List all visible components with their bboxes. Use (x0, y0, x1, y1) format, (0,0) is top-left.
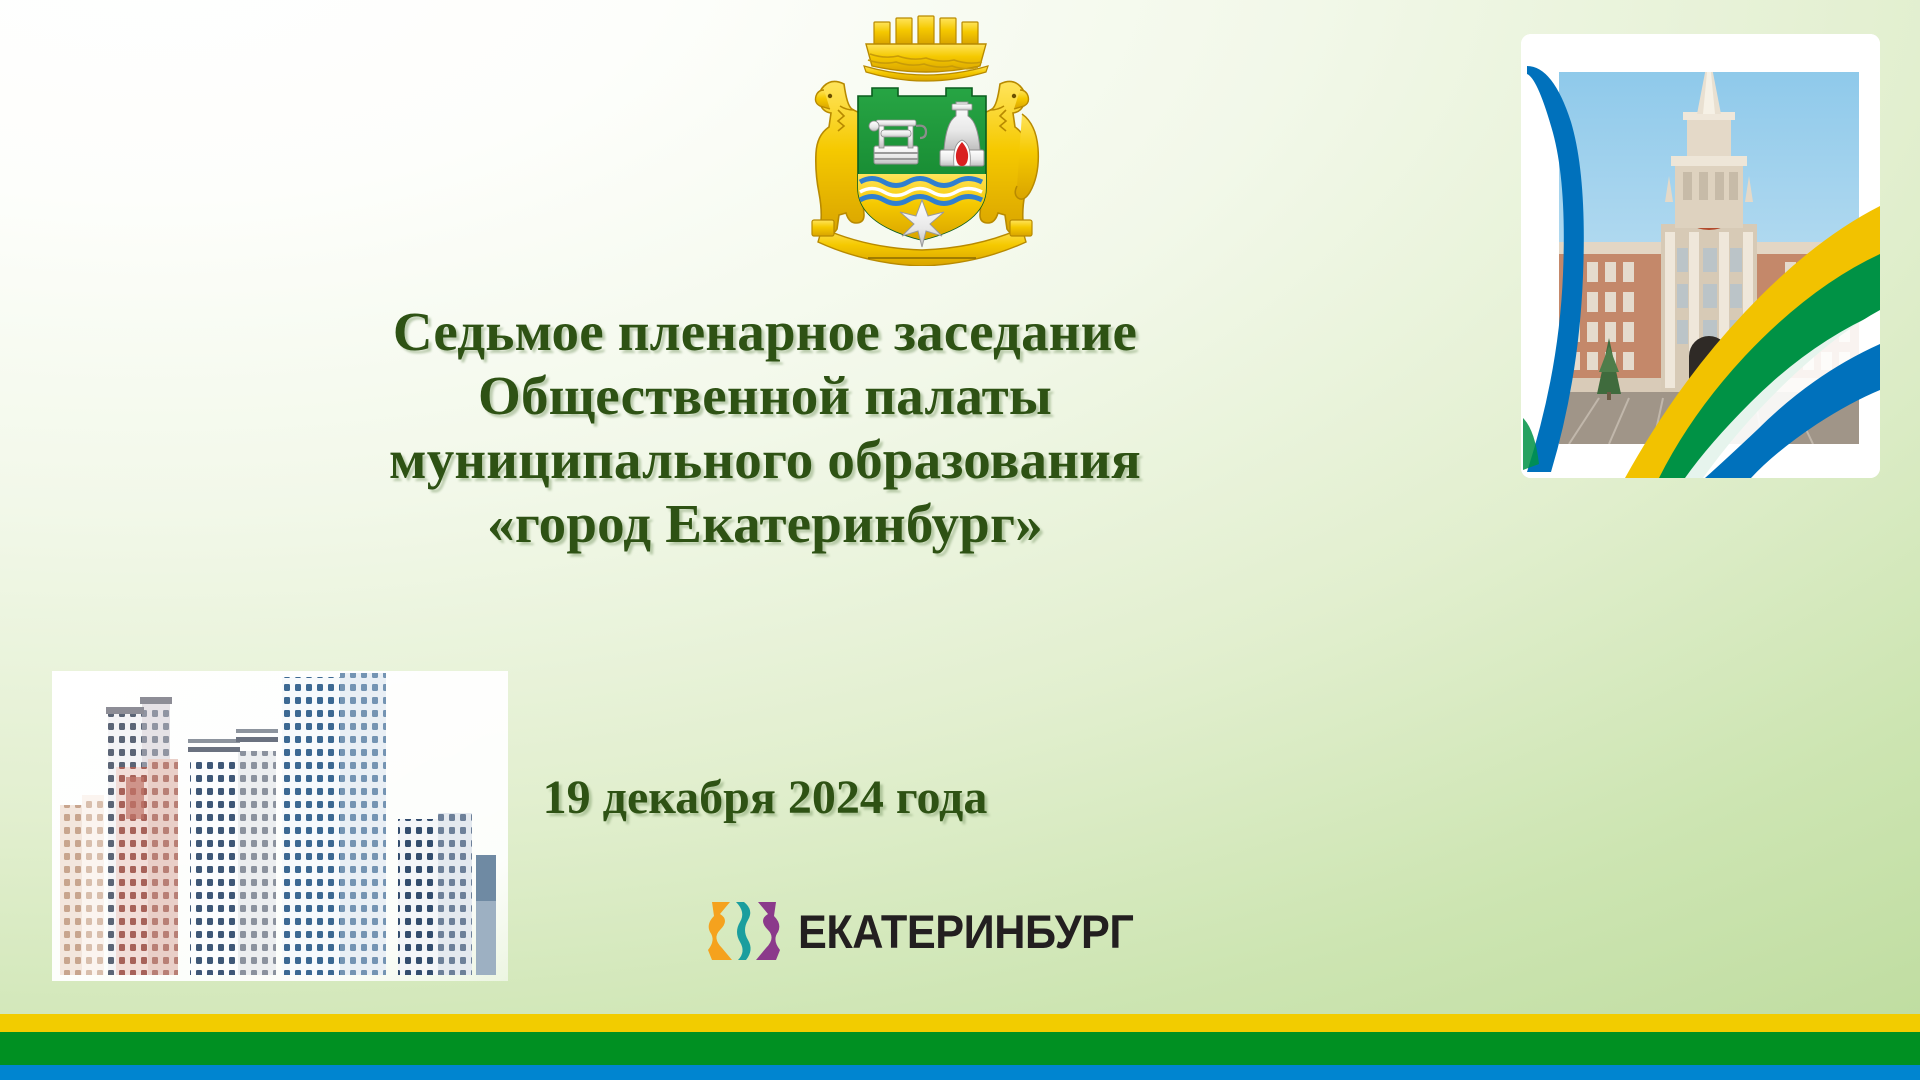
mural-crown (864, 16, 988, 81)
title-line-4: «город Екатеринбург» (300, 492, 1230, 556)
coat-of-arms-emblem (782, 14, 1062, 266)
footer-stripes (0, 1014, 1920, 1080)
city-skyline-illustration (40, 655, 520, 1000)
building-blue-tall (282, 673, 386, 975)
title-line-2: Общественной палаты (300, 364, 1230, 428)
building-redbrown (116, 759, 178, 975)
stripe-blue (0, 1065, 1920, 1080)
city-hall-photo-card (1513, 26, 1888, 486)
building-slab-far-right (476, 855, 496, 975)
title-line-3: муниципального образования (300, 428, 1230, 492)
stripe-yellow (0, 1014, 1920, 1032)
brand-mark-icon (706, 900, 784, 962)
building-white-mid (188, 729, 278, 975)
title-line-1: Седьмое пленарное заседание (300, 300, 1230, 364)
stripe-green (0, 1032, 1920, 1065)
heraldic-shield (858, 88, 986, 247)
presentation-slide: Седьмое пленарное заседание Общественной… (0, 0, 1920, 1080)
ekaterinburg-brand-logo: ЕКАТЕРИНБУРГ (706, 900, 1163, 962)
building-navy-right (398, 813, 472, 975)
slide-title: Седьмое пленарное заседание Общественной… (300, 300, 1230, 556)
brand-wordmark: ЕКАТЕРИНБУРГ (798, 908, 1133, 955)
building-tan (60, 795, 104, 975)
